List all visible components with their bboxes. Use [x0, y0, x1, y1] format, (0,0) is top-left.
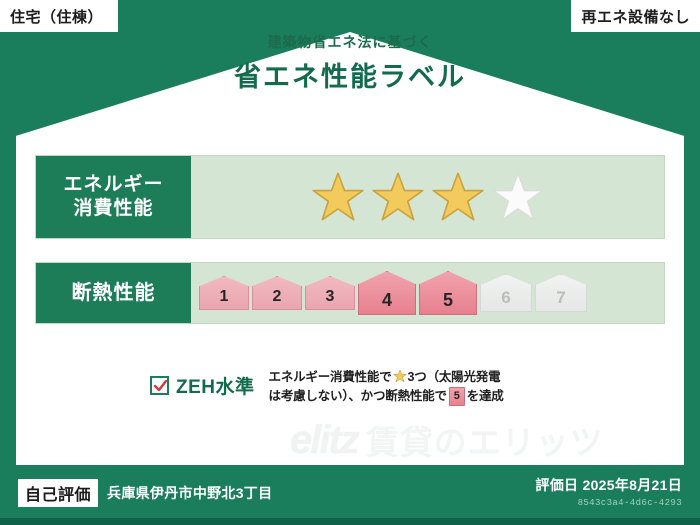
- energy-performance-row: エネルギー 消費性能: [35, 155, 665, 239]
- star-empty-icon: [491, 170, 545, 224]
- footer-left: 自己評価 兵庫県伊丹市中野北3丁目: [18, 479, 272, 507]
- star-rating: [191, 156, 664, 238]
- building-type-label: 住宅（住棟）: [10, 6, 103, 27]
- energy-label-line2: 消費性能: [73, 197, 153, 221]
- renewable-energy-label: 再エネ設備なし: [581, 6, 690, 27]
- zeh-description: エネルギー消費性能で3つ（太陽光発電 は考慮しない）、かつ断熱性能で5を達成: [269, 368, 504, 407]
- zeh-desc-part3: は考慮しない）、かつ断熱性能で: [269, 389, 447, 403]
- zeh-label: ZEH水準: [176, 372, 255, 399]
- zeh-badge: ZEH水準: [150, 368, 255, 399]
- zeh-standard-block: ZEH水準 エネルギー消費性能で3つ（太陽光発電 は考慮しない）、かつ断熱性能で…: [150, 368, 630, 407]
- zeh-desc-part2: 3つ（太陽光発電: [408, 370, 501, 384]
- building-type-tab: 住宅（住棟）: [0, 0, 118, 32]
- energy-performance-label-box: エネルギー 消費性能: [36, 156, 191, 238]
- insulation-label: 断熱性能: [72, 281, 156, 306]
- insulation-grade-badge: 5: [419, 271, 477, 315]
- insulation-grade-badge: 7: [535, 274, 587, 312]
- zeh-desc-part4: を達成: [467, 389, 504, 403]
- insulation-grade-badge: 1: [199, 276, 249, 310]
- insulation-grade-badge: 4: [358, 271, 416, 315]
- star-filled-icon: [371, 170, 425, 224]
- self-evaluation-badge: 自己評価: [18, 479, 98, 507]
- bottom-strip: [0, 518, 700, 525]
- insulation-grade-badge: 2: [252, 276, 302, 310]
- star-filled-icon: [311, 170, 365, 224]
- insulation-performance-label-box: 断熱性能: [36, 263, 191, 323]
- zeh-checkbox-checked-icon: [150, 376, 169, 395]
- star-inline-icon: [393, 369, 407, 383]
- document-id: 8543c3a4-4d6c-4293: [535, 498, 682, 508]
- footer-right: 評価日 2025年8月21日 8543c3a4-4d6c-4293: [535, 475, 682, 508]
- property-address: 兵庫県伊丹市中野北3丁目: [107, 483, 272, 503]
- star-filled-icon: [431, 170, 485, 224]
- energy-performance-label: 住宅（住棟） 再エネ設備なし 建築物省エネ法に基づく 省エネ性能ラベル エネルギ…: [0, 0, 700, 525]
- insulation-performance-row: 断熱性能 1 2 3 4 5 6 7: [35, 262, 665, 324]
- renewable-energy-tab: 再エネ設備なし: [571, 0, 700, 32]
- footer-bar: 自己評価 兵庫県伊丹市中野北3丁目 評価日 2025年8月21日 8543c3a…: [0, 465, 700, 525]
- evaluation-date: 評価日 2025年8月21日: [535, 475, 682, 495]
- insulation-grade-scale: 1 2 3 4 5 6 7: [191, 263, 664, 323]
- zeh-desc-grade-badge: 5: [449, 387, 465, 406]
- zeh-desc-part1: エネルギー消費性能で: [269, 370, 392, 384]
- insulation-grade-badge: 6: [480, 274, 532, 312]
- energy-label-line1: エネルギー: [63, 173, 163, 197]
- insulation-grade-badge: 3: [305, 276, 355, 310]
